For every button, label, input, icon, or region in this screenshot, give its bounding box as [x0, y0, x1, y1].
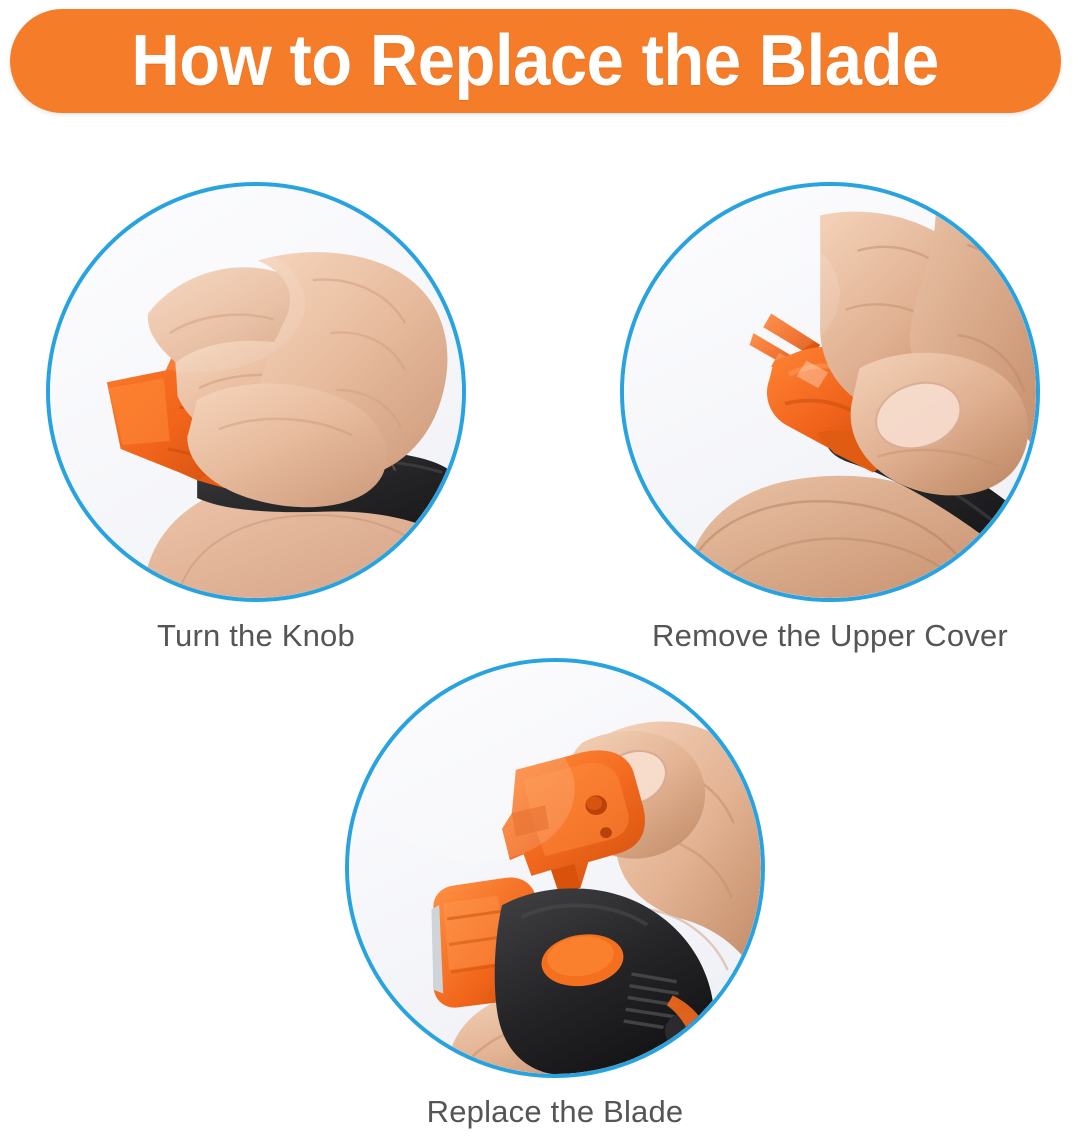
header-banner: How to Replace the Blade: [10, 9, 1061, 113]
step-2-caption: Remove the Upper Cover: [620, 618, 1040, 654]
step-1-photo-circle: [46, 182, 466, 602]
step-3: Replace the Blade: [345, 658, 765, 1130]
step-3-photo-circle: [345, 658, 765, 1078]
step-3-caption: Replace the Blade: [345, 1094, 765, 1130]
hand-removing-cover-photo: [624, 186, 1036, 598]
step-1-caption: Turn the Knob: [46, 618, 466, 654]
page-title: How to Replace the Blade: [132, 25, 939, 97]
step-2: Remove the Upper Cover: [620, 182, 1040, 654]
step-1: Turn the Knob: [46, 182, 466, 654]
hand-replacing-blade-photo: [349, 662, 761, 1074]
hand-turning-knob-photo: [50, 186, 462, 598]
step-2-photo-circle: [620, 182, 1040, 602]
